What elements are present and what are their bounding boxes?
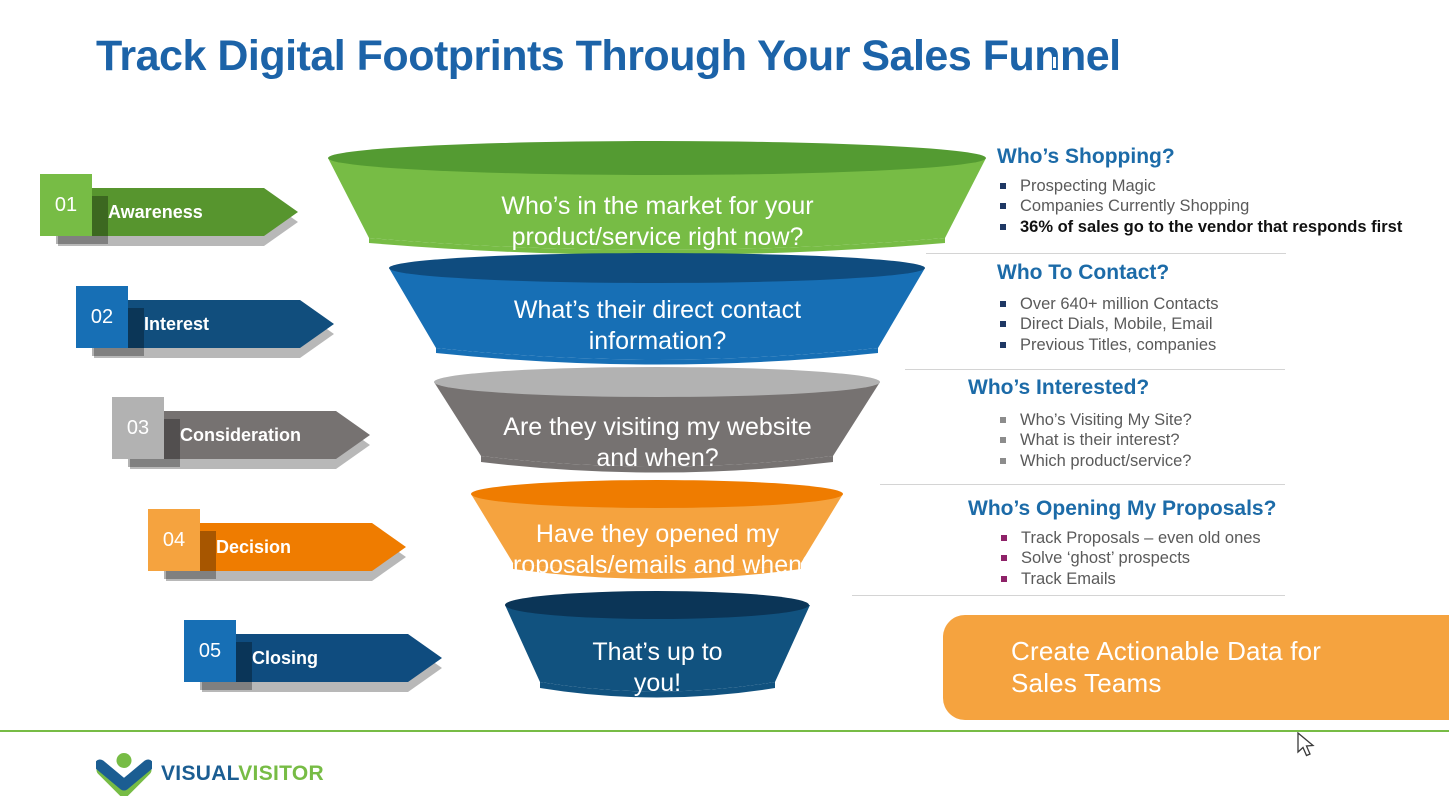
footer-divider — [0, 730, 1449, 732]
section-divider — [852, 595, 1285, 596]
bullet-square-icon — [1001, 535, 1007, 541]
bullet-square-icon — [1001, 555, 1007, 561]
list-item-label: Companies Currently Shopping — [1020, 197, 1249, 215]
bullet-square-icon — [1000, 417, 1006, 423]
step-number: 03 — [127, 417, 149, 440]
page-title: Track Digital Footprints Through Your Sa… — [96, 33, 1296, 80]
info-bullet-list: Over 640+ million Contacts Direct Dials,… — [997, 294, 1219, 355]
info-bullet-list: Prospecting Magic Companies Currently Sh… — [997, 176, 1402, 237]
bullet-square-icon — [1000, 224, 1006, 230]
list-item-label: Prospecting Magic — [1020, 177, 1156, 195]
list-item-label: Which product/service? — [1020, 452, 1192, 470]
list-item: Prospecting Magic — [997, 176, 1402, 196]
list-item: Which product/service? — [997, 451, 1192, 471]
info-bullet-list: Track Proposals – even old ones Solve ‘g… — [998, 528, 1276, 589]
step-number-badge: 03 — [112, 397, 164, 459]
list-item-label: Direct Dials, Mobile, Email — [1020, 315, 1213, 333]
section-divider — [905, 369, 1285, 370]
step-label: Decision — [216, 523, 291, 571]
bullet-square-icon — [1000, 203, 1006, 209]
step-number-badge: 04 — [148, 509, 200, 571]
info-heading: Who’s Interested? — [968, 376, 1192, 400]
step-number: 05 — [199, 640, 221, 663]
step-number-badge: 02 — [76, 286, 128, 348]
list-item-label: Track Proposals – even old ones — [1021, 529, 1261, 547]
list-item-label: Who’s Visiting My Site? — [1020, 411, 1192, 429]
list-item-label: Over 640+ million Contacts — [1020, 295, 1219, 313]
list-item-label: Track Emails — [1021, 570, 1116, 588]
step-number-badge: 05 — [184, 620, 236, 682]
section-divider — [880, 484, 1285, 485]
step-number: 04 — [163, 529, 185, 552]
list-item-label: 36% of sales go to the vendor that respo… — [1020, 218, 1402, 236]
step-marker-closing[interactable]: 05 Closing — [192, 634, 442, 682]
step-label: Closing — [252, 634, 318, 682]
bullet-square-icon — [1001, 576, 1007, 582]
visualvisitor-person-icon — [96, 752, 152, 796]
list-item-label: Solve ‘ghost’ prospects — [1021, 549, 1190, 567]
info-section-shopping: Who’s Shopping? Prospecting Magic Compan… — [997, 145, 1402, 237]
funnel-caption-1: Who’s in the market for your product/ser… — [425, 191, 890, 253]
bullet-square-icon — [1000, 183, 1006, 189]
step-number: 02 — [91, 306, 113, 329]
bullet-square-icon — [1000, 458, 1006, 464]
bullet-square-icon — [1000, 342, 1006, 348]
list-item-label: What is their interest? — [1020, 431, 1180, 449]
step-number: 01 — [55, 194, 77, 217]
list-item: Direct Dials, Mobile, Email — [997, 314, 1219, 334]
cta-label: Create Actionable Data for Sales Teams — [943, 636, 1321, 699]
list-item: Track Proposals – even old ones — [998, 528, 1276, 548]
step-number-badge: 01 — [40, 174, 92, 236]
list-item: Companies Currently Shopping — [997, 196, 1402, 216]
section-divider — [926, 253, 1286, 254]
list-item-label: Previous Titles, companies — [1020, 336, 1216, 354]
list-item: 36% of sales go to the vendor that respo… — [997, 217, 1402, 237]
mouse-arrow-cursor — [1297, 732, 1317, 760]
info-heading: Who To Contact? — [997, 261, 1219, 285]
logo-wordmark: VISUALVISITOR — [161, 762, 324, 786]
step-label: Consideration — [180, 411, 301, 459]
info-heading: Who’s Opening My Proposals? — [968, 497, 1276, 521]
step-marker-decision[interactable]: 04 Decision — [156, 523, 406, 571]
list-item: Track Emails — [998, 569, 1276, 589]
step-marker-awareness[interactable]: 01 Awareness — [48, 188, 298, 236]
bullet-square-icon — [1000, 301, 1006, 307]
info-heading: Who’s Shopping? — [997, 145, 1402, 169]
info-section-proposals: Who’s Opening My Proposals? Track Propos… — [968, 497, 1276, 589]
funnel-caption-3: Are they visiting my website and when? — [435, 412, 880, 474]
step-marker-consideration[interactable]: 03 Consideration — [120, 411, 370, 459]
slide-canvas: Track Digital Footprints Through Your Sa… — [0, 0, 1449, 810]
list-item: Previous Titles, companies — [997, 335, 1219, 355]
bullet-square-icon — [1000, 437, 1006, 443]
visualvisitor-logo[interactable]: VISUALVISITOR — [96, 752, 324, 796]
funnel-caption-5: That’s up to you! — [505, 637, 810, 699]
list-item: Solve ‘ghost’ prospects — [998, 548, 1276, 568]
logo-word-visual: VISUAL — [161, 762, 238, 785]
bullet-square-icon — [1000, 321, 1006, 327]
info-section-contact: Who To Contact? Over 640+ million Contac… — [997, 261, 1219, 355]
step-label: Awareness — [108, 188, 203, 236]
cta-banner[interactable]: Create Actionable Data for Sales Teams — [943, 615, 1449, 720]
list-item: What is their interest? — [997, 430, 1192, 450]
info-bullet-list: Who’s Visiting My Site? What is their in… — [997, 410, 1192, 471]
list-item: Who’s Visiting My Site? — [997, 410, 1192, 430]
text-caret — [1053, 57, 1056, 68]
step-label: Interest — [144, 300, 209, 348]
list-item: Over 640+ million Contacts — [997, 294, 1219, 314]
info-section-interested: Who’s Interested? Who’s Visiting My Site… — [968, 376, 1192, 471]
funnel-caption-4: Have they opened my proposals/emails and… — [440, 519, 875, 581]
logo-word-visitor: VISITOR — [238, 762, 324, 785]
step-marker-interest[interactable]: 02 Interest — [84, 300, 334, 348]
funnel-caption-2: What’s their direct contact information? — [425, 295, 890, 357]
